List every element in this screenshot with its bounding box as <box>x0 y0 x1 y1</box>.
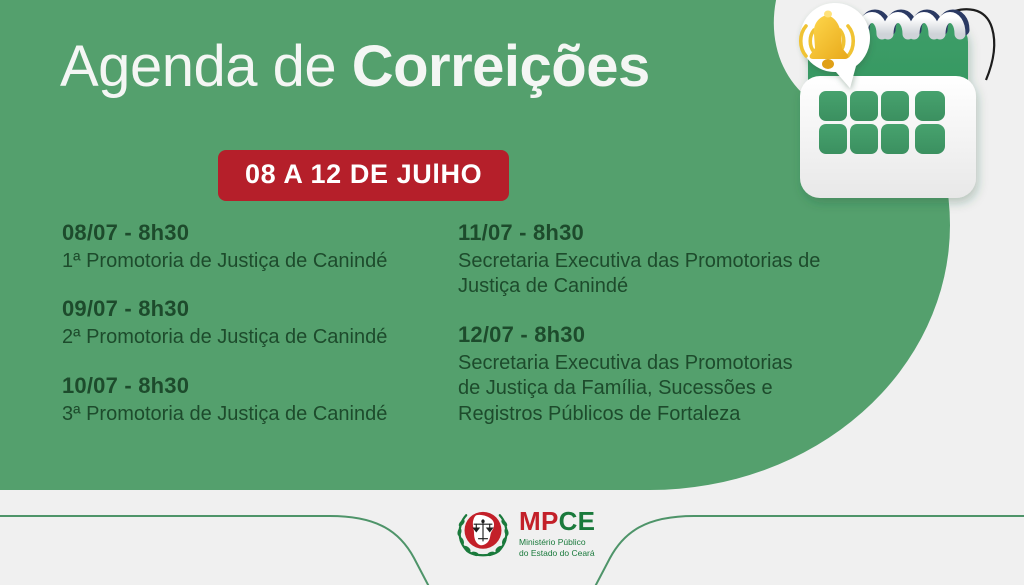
mpce-acronym: MPCE <box>519 508 595 534</box>
agenda-column-left: 08/07 - 8h30 1ª Promotoria de Justiça de… <box>62 220 442 427</box>
agenda-entry: 12/07 - 8h30 Secretaria Executiva das Pr… <box>458 322 838 428</box>
poster-canvas: Agenda de Correições 08 A 12 DE JUlHO 08… <box>0 0 1024 585</box>
mpce-emblem-icon <box>455 504 511 560</box>
deco-line-left <box>0 516 436 585</box>
calendar-icon <box>790 0 1020 224</box>
agenda-entry-description: 1ª Promotoria de Justiça de Canindé <box>62 249 442 275</box>
agenda-entry-datetime: 11/07 - 8h30 <box>458 220 838 247</box>
mpce-logo-text: MPCE Ministério Público do Estado do Cea… <box>519 506 595 558</box>
agenda-entry-datetime: 10/07 - 8h30 <box>62 373 442 400</box>
agenda-entry: 08/07 - 8h30 1ª Promotoria de Justiça de… <box>62 220 442 274</box>
agenda-entry: 11/07 - 8h30 Secretaria Executiva das Pr… <box>458 220 838 300</box>
agenda-entry: 10/07 - 8h30 3ª Promotoria de Justiça de… <box>62 373 442 427</box>
agenda-entry: 09/07 - 8h30 2ª Promotoria de Justiça de… <box>62 296 442 350</box>
agenda-entry-description: Secretaria Executiva das Promotorias de … <box>458 351 838 428</box>
title-light-part: Agenda de <box>60 34 352 99</box>
mpce-logo: MPCE Ministério Público do Estado do Cea… <box>455 504 595 560</box>
agenda-entry-description: 2ª Promotoria de Justiça de Canindé <box>62 325 442 351</box>
mpce-acronym-mp: MP <box>519 506 559 536</box>
title-bold-part: Correições <box>352 34 650 99</box>
deco-line-right <box>588 516 1024 585</box>
agenda-entry-datetime: 09/07 - 8h30 <box>62 296 442 323</box>
mpce-acronym-ce: CE <box>559 506 596 536</box>
calendar-illustration <box>790 0 1020 224</box>
agenda-entry-description: Secretaria Executiva das Promotorias de … <box>458 249 838 300</box>
agenda-entry-datetime: 12/07 - 8h30 <box>458 322 838 349</box>
date-range-badge: 08 A 12 DE JUlHO <box>218 150 509 201</box>
mpce-subtitle: Ministério Público do Estado do Ceará <box>519 537 595 558</box>
agenda-column-right: 11/07 - 8h30 Secretaria Executiva das Pr… <box>458 220 838 428</box>
agenda-entry-description: 3ª Promotoria de Justiça de Canindé <box>62 402 442 428</box>
agenda-entry-datetime: 08/07 - 8h30 <box>62 220 442 247</box>
page-title: Agenda de Correições <box>60 38 650 96</box>
